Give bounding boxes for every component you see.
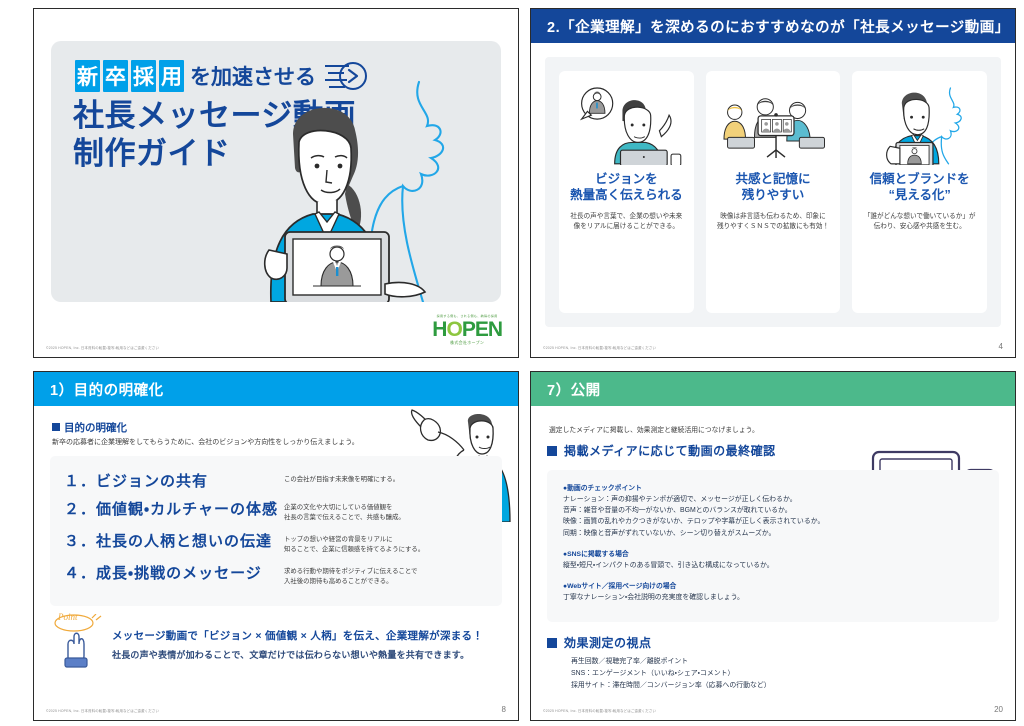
slide-footer-note: ©2025 HOPEN, Inc. 日本資料の転載・複写・転用などはご遠慮くださ…: [46, 345, 159, 350]
highlight-char-3: 採: [131, 60, 156, 92]
slide-footer-note: ©2025 HOPEN, Inc. 日本資料の転載・複写・転用などはご遠慮くださ…: [543, 345, 656, 350]
measurement-list: 再生回数／視聴完了率／離脱ポイント SNS：エンゲージメント（いいね・シェア・コ…: [571, 656, 771, 692]
numbered-item-note: トップの想いや経営の背景をリアルに 知ることで、企業に信頼感を持てるようにする。: [284, 530, 424, 555]
slide-company-understanding[interactable]: 2.「企業理解」を深めるのにおすすめなのが「社長メッセージ動画」: [530, 8, 1016, 358]
logo-tagline-bottom: 株式会社ホープン: [432, 341, 502, 345]
slide-body: ビジョンを 熱量高く伝えられる 社長の声や言葉で、企業の想いや未来 像をリアルに…: [531, 43, 1015, 357]
section-heading: 目的の明確化: [52, 420, 127, 435]
square-bullet-icon: [52, 423, 60, 431]
pointing-hand-icon: [52, 614, 108, 668]
numbered-item-note: 求める行動や期待をポジティブに伝えることで 入社後の期待も高めることができる。: [284, 562, 417, 587]
checklist-group-heading: ●動画のチェックポイント: [563, 482, 983, 492]
point-callout: Point メッセージ動画で「ビジョン × 価値観 × 人柄」を伝え、企業理解が…: [50, 618, 502, 680]
spacer: [563, 539, 983, 548]
section-lead-text: 新卒の応募者に企業理解をしてもらうために、会社のビジョンや方向性をしっかり伝えま…: [52, 438, 428, 449]
benefit-card-title: 信頼とブランドを “見える化”: [870, 171, 970, 204]
numbered-item-label: ３．社長の人柄と想いの伝達: [64, 530, 284, 551]
benefit-card-title: 共感と記憶に 残りやすい: [736, 171, 811, 204]
checklist-line: 映像：画質の乱れやカクつきがないか、テロップや字幕が正しく表示されているか。: [563, 516, 983, 527]
logo-wordmark: HOPEN: [432, 318, 502, 341]
numbered-item-note: 企業の文化や大切にしている価値観を 社長の言葉で伝えることで、共感も醸成。: [284, 498, 405, 523]
checklist-line: 同期：映像と音声がずれていないか、シーン切り替えがスムーズか。: [563, 528, 983, 539]
measurement-line: SNS：エンゲージメント（いいね・シェア・コメント）: [571, 668, 771, 680]
slide-footer-note: ©2025 HOPEN, Inc. 日本資料の転載・複写・転用などはご遠慮くださ…: [543, 708, 656, 713]
measurement-line: 再生回数／視聴完了率／離脱ポイント: [571, 656, 771, 668]
benefit-cards-container: ビジョンを 熱量高く伝えられる 社長の声や言葉で、企業の想いや未来 像をリアルに…: [545, 57, 1001, 327]
slide-cover[interactable]: 新 卒 採 用 を加速させる 社長メッセージ動画: [33, 8, 519, 358]
slide-publish[interactable]: 7）公開 選定したメディアに掲載し、効果測定と継続活用につなげましょう。 掲載メ…: [530, 371, 1016, 721]
checklist-line: ナレーション：声の抑揚やテンポが適切で、メッセージが正しく伝わるか。: [563, 494, 983, 505]
slide-footer-note: ©2025 HOPEN, Inc. 日本資料の転載・複写・転用などはご遠慮くださ…: [46, 708, 159, 713]
highlight-char-2: 卒: [103, 60, 128, 92]
woman-holding-tablet-icon: [861, 81, 978, 165]
page-number: 8: [502, 705, 506, 714]
benefit-card[interactable]: ビジョンを 熱量高く伝えられる 社長の声や言葉で、企業の想いや未来 像をリアルに…: [559, 71, 694, 313]
benefit-card-description: 「誰がどんな想いで働いているか」が 伝わり、安心感や共感を生む。: [864, 212, 976, 234]
numbered-item-label: ４．成長・挑戦のメッセージ: [64, 562, 284, 583]
spacer: [563, 571, 983, 580]
benefit-card-title: ビジョンを 熱量高く伝えられる: [570, 171, 683, 204]
numbered-items-box: １．ビジョンの共有 この会社が目指す未来像を明確にする。 ２．価値観・カルチャー…: [50, 456, 502, 606]
highlight-char-4: 用: [159, 60, 184, 92]
measurement-line: 採用サイト：滞在時間／コンバージョン率（応募への行動など）: [571, 680, 771, 692]
checklist-box: ●動画のチェックポイント ナレーション：声の抑揚やテンポが適切で、メッセージが正…: [547, 470, 999, 622]
slide-header-title: 2.「企業理解」を深めるのにおすすめなのが「社長メッセージ動画」: [531, 9, 1015, 43]
checklist-line: 丁寧なナレーション・会社説明の充実度を確認しましょう。: [563, 592, 983, 603]
slide-body: 選定したメディアに掲載し、効果測定と継続活用につなげましょう。 掲載メディアに応…: [531, 406, 1015, 720]
benefit-card-description: 映像は非言語も伝わるため、印象に 残りやすくＳＮＳでの拡散にも有効！: [717, 212, 829, 234]
point-line-1: メッセージ動画で「ビジョン × 価値観 × 人柄」を伝え、企業理解が深まる！: [112, 628, 483, 643]
benefit-card[interactable]: 信頼とブランドを “見える化” 「誰がどんな想いで働いているか」が 伝わり、安心…: [852, 71, 987, 313]
slide-deck-grid: 新 卒 採 用 を加速させる 社長メッセージ動画: [0, 0, 1024, 726]
highlight-char-1: 新: [75, 60, 100, 92]
page-number: 4: [999, 342, 1003, 351]
section-lead-text: 選定したメディアに掲載し、効果測定と継続活用につなげましょう。: [549, 424, 759, 434]
slide-header-title: 1）目的の明確化: [34, 372, 518, 406]
square-bullet-icon: [547, 638, 557, 648]
numbered-item: ３．社長の人柄と想いの伝達 トップの想いや経営の背景をリアルに 知ることで、企業…: [64, 530, 488, 555]
section-heading-final-check: 掲載メディアに応じて動画の最終確認: [547, 442, 776, 459]
checklist-line: 音声：雑音や音量の不均一がないか、BGMとのバランスが取れているか。: [563, 505, 983, 516]
slide-header-title: 7）公開: [531, 372, 1015, 406]
page-number: 20: [994, 705, 1003, 714]
cover-panel: 新 卒 採 用 を加速させる 社長メッセージ動画: [51, 41, 501, 302]
hopen-logo: 採用する側も、される側も、納得の採用 HOPEN 株式会社ホープン: [432, 315, 502, 345]
slide-body: 目的の明確化 新卒の応募者に企業理解をしてもらうために、会社のビジョンや方向性を…: [34, 406, 518, 720]
checklist-group-heading: ●SNSに掲載する場合: [563, 548, 983, 558]
slide-purpose-clarification[interactable]: 1）目的の明確化 目的の明確化 新卒の応募者に企業理解をしてもらうために、会社の…: [33, 371, 519, 721]
numbered-item-label: １．ビジョンの共有: [64, 470, 284, 491]
numbered-item: ４．成長・挑戦のメッセージ 求める行動や期待をポジティブに伝えることで 入社後の…: [64, 562, 488, 587]
numbered-item: １．ビジョンの共有 この会社が目指す未来像を明確にする。: [64, 470, 488, 491]
square-bullet-icon: [547, 446, 557, 456]
benefit-card-description: 社長の声や言葉で、企業の想いや未来 像をリアルに届けることができる。: [570, 212, 682, 234]
cover-illustration-woman-tablet: [197, 72, 497, 302]
meeting-smartphone-recording-icon: [715, 81, 832, 165]
section-heading-measurement: 効果測定の視点: [547, 634, 652, 651]
point-line-2: 社長の声や表情が加わることで、文章だけでは伝わらない想いや熱量を共有できます。: [112, 648, 469, 661]
numbered-item: ２．価値観・カルチャーの体感 企業の文化や大切にしている価値観を 社長の言葉で伝…: [64, 498, 488, 523]
numbered-item-note: この会社が目指す未来像を明確にする。: [284, 470, 399, 485]
checklist-line: 縦型・短尺・インパクトのある冒頭で、引き込む構成になっているか。: [563, 560, 983, 571]
checklist-group-heading: ●Webサイト／採用ページ向けの場合: [563, 580, 983, 590]
benefit-card[interactable]: 共感と記憶に 残りやすい 映像は非言語も伝わるため、印象に 残りやすくＳＮＳでの…: [706, 71, 841, 313]
person-laptop-thought-icon: [568, 81, 685, 165]
numbered-item-label: ２．価値観・カルチャーの体感: [64, 498, 284, 519]
